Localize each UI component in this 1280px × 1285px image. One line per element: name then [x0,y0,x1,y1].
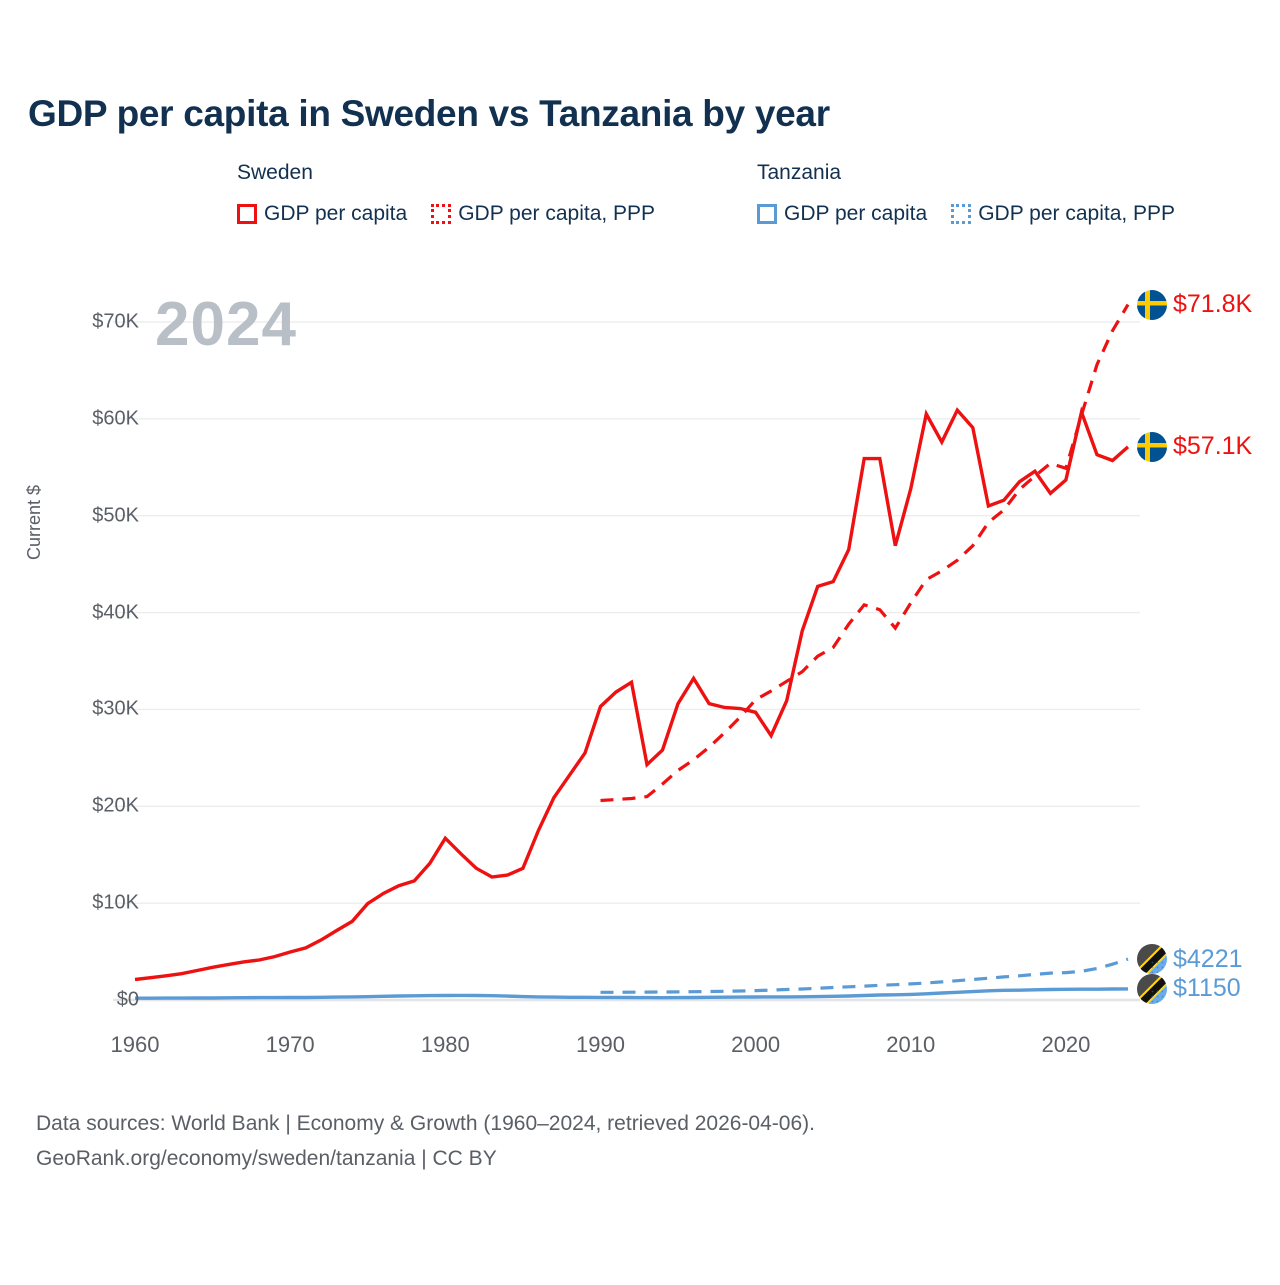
x-tick-label: 1980 [421,1032,470,1058]
y-tick-label: $30K [92,698,139,721]
endpoint-value-sweden-nominal: $57.1K [1173,432,1252,461]
tanzania-flag-icon [1137,944,1167,974]
x-tick-label: 2010 [886,1032,935,1058]
footer: Data sources: World Bank | Economy & Gro… [36,1106,815,1176]
y-tick-label: $50K [92,504,139,527]
y-tick-label: $40K [92,601,139,624]
endpoint-value-tanzania-nominal: $1150 [1173,974,1241,1003]
chart-svg [0,0,1280,1280]
x-tick-label: 2000 [731,1032,780,1058]
endpoint-sweden-ppp: $71.8K [1137,290,1252,320]
sweden-flag-icon [1137,290,1167,320]
chart-plot-area: Current $ 2024 $0$10K$20K$30K$40K$50K$60… [0,0,1280,1280]
y-tick-label: $20K [92,795,139,818]
footer-line-attribution: GeoRank.org/economy/sweden/tanzania | CC… [36,1141,815,1176]
x-tick-label: 1970 [266,1032,315,1058]
x-tick-label: 2020 [1041,1032,1090,1058]
y-tick-label: $0 [117,989,139,1012]
x-tick-label: 1960 [111,1032,160,1058]
x-tick-label: 1990 [576,1032,625,1058]
footer-line-sources: Data sources: World Bank | Economy & Gro… [36,1106,815,1141]
endpoint-tanzania-ppp: $4221 [1137,944,1243,974]
endpoint-value-sweden-ppp: $71.8K [1173,290,1252,319]
series-line-1 [601,305,1129,801]
watermark-year: 2024 [155,294,297,356]
series-line-3 [601,959,1129,992]
y-tick-label: $10K [92,892,139,915]
y-tick-label: $70K [92,311,139,334]
endpoint-sweden-nominal: $57.1K [1137,432,1252,462]
series-line-0 [135,410,1128,979]
endpoint-value-tanzania-ppp: $4221 [1173,945,1243,974]
y-axis-title: Current $ [24,485,45,560]
y-tick-label: $60K [92,407,139,430]
tanzania-flag-icon [1137,974,1167,1004]
endpoint-tanzania-nominal: $1150 [1137,974,1241,1004]
sweden-flag-icon [1137,432,1167,462]
